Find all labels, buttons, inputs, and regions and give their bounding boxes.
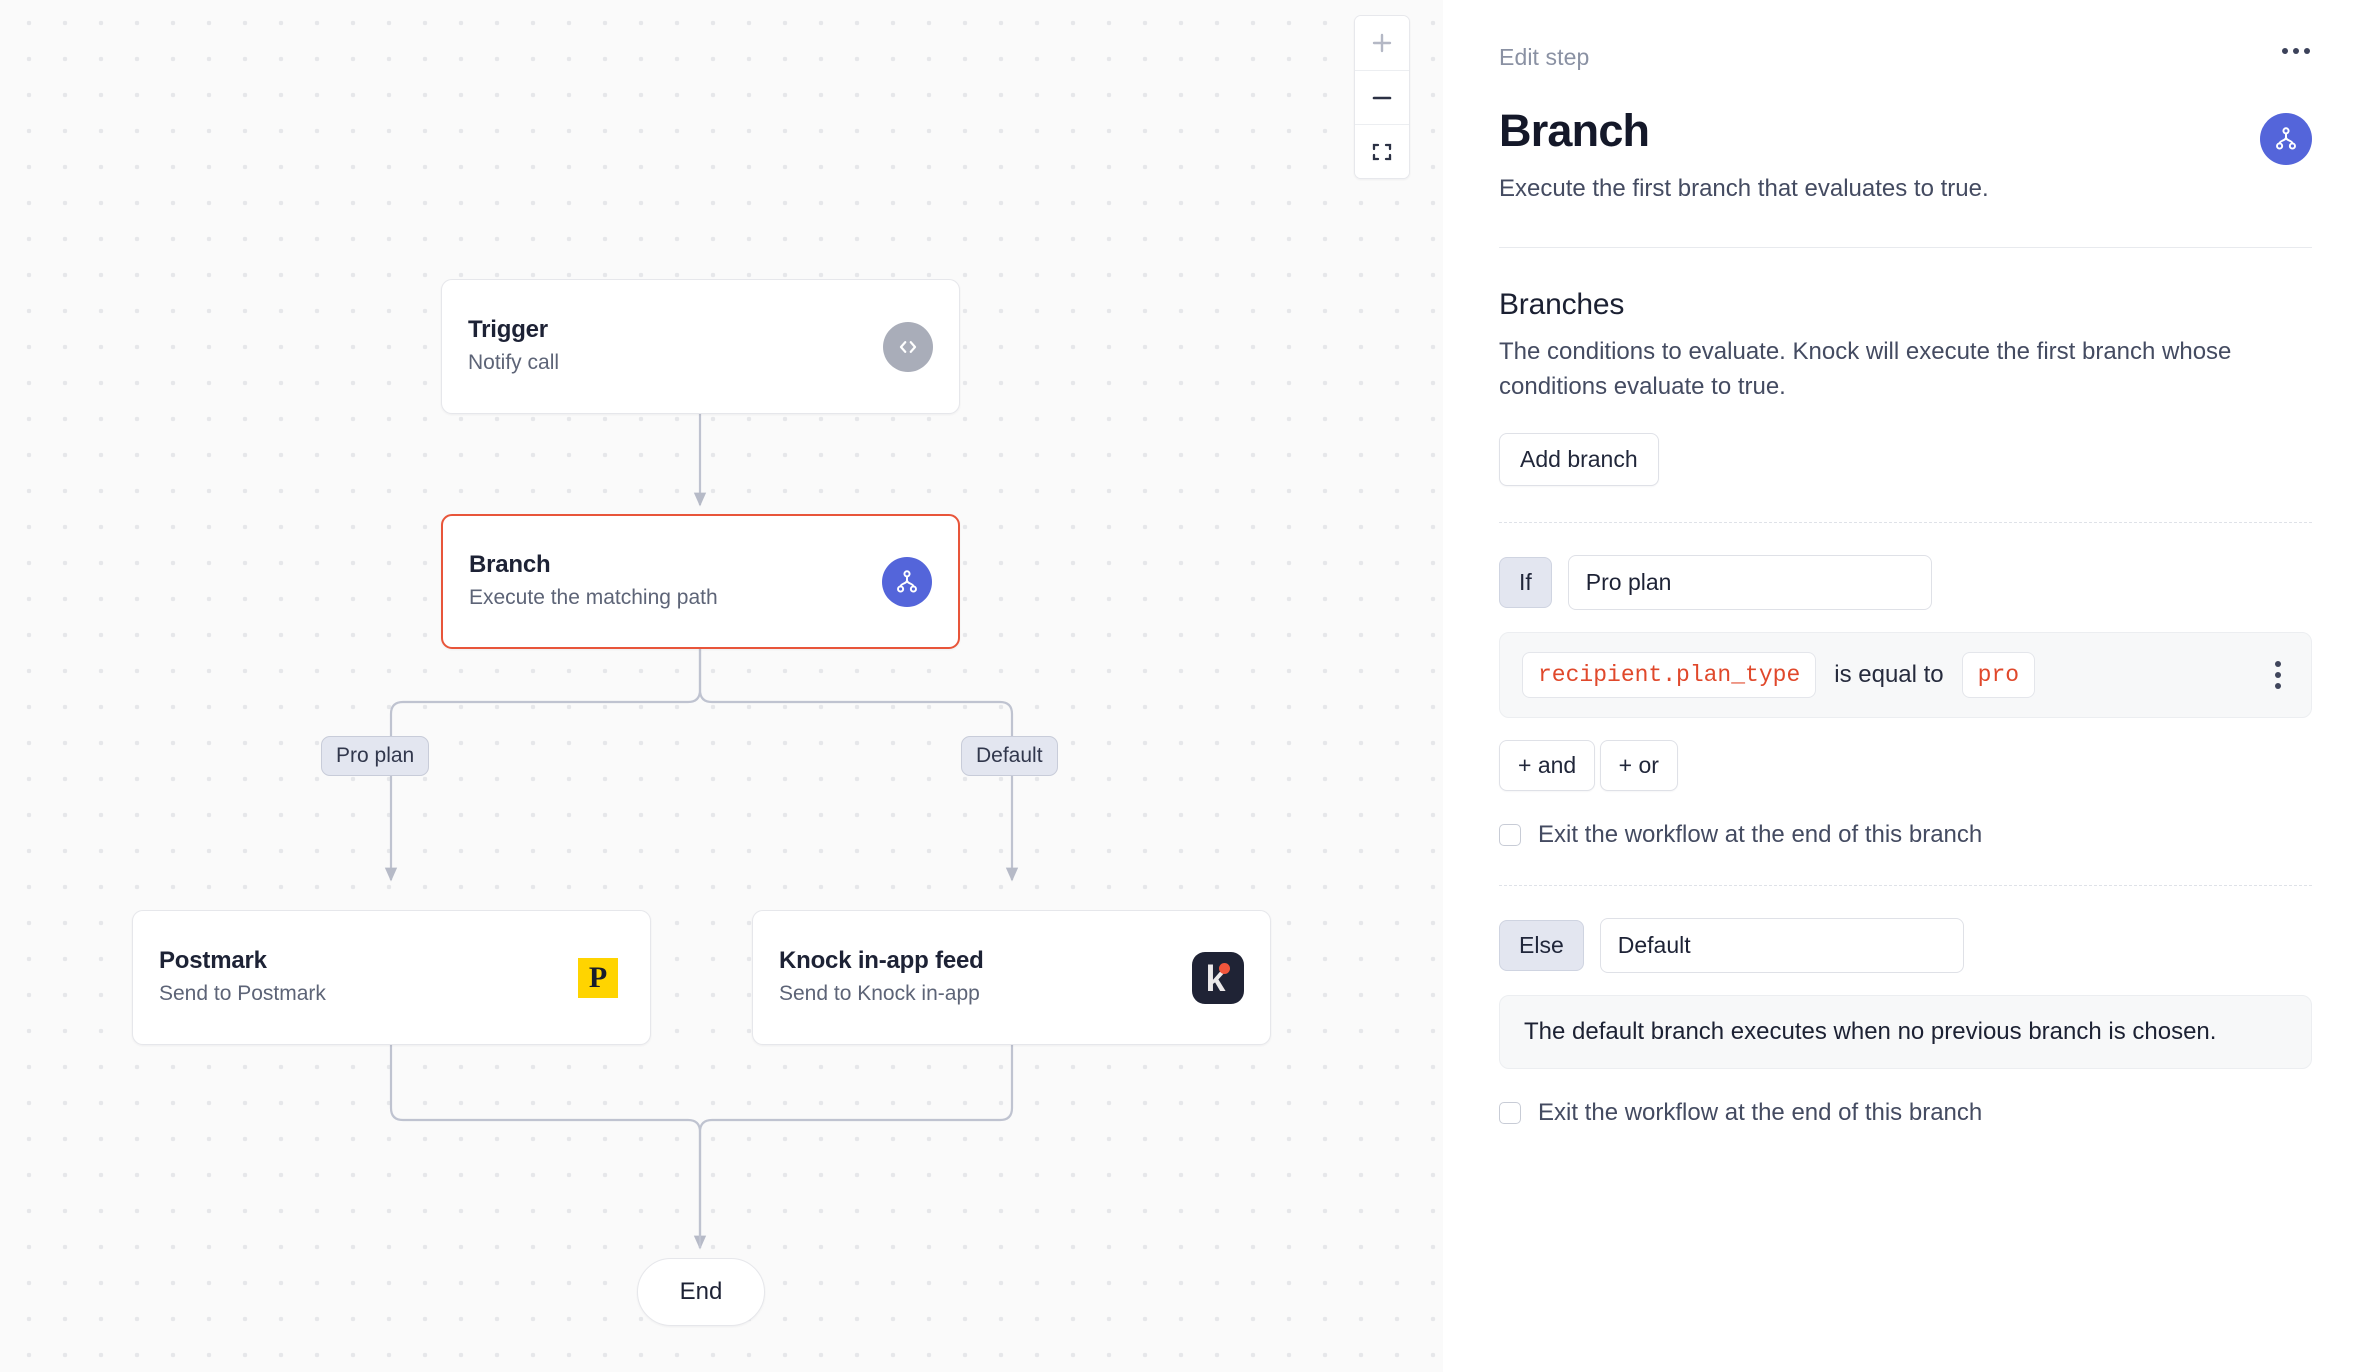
branch-if-exit-row: Exit the workflow at the end of this bra… xyxy=(1499,821,2312,849)
branch-else: Else The default branch executes when no… xyxy=(1499,918,2312,1127)
branch-if: If recipient.plan_type is equal to pro +… xyxy=(1499,555,2312,849)
condition-row: recipient.plan_type is equal to pro xyxy=(1499,632,2312,718)
workflow-canvas[interactable]: Trigger Notify call Branch Execute the m… xyxy=(0,0,1443,1372)
branch-if-exit-label: Exit the workflow at the end of this bra… xyxy=(1538,821,1982,849)
condition-operator[interactable]: is equal to xyxy=(1834,661,1943,689)
flow-node-end[interactable]: End xyxy=(637,1258,765,1326)
branch-else-header: Else xyxy=(1499,918,2312,973)
branch-else-exit-label: Exit the workflow at the end of this bra… xyxy=(1538,1099,1982,1127)
branch-icon xyxy=(2260,113,2312,165)
flow-node-knock-in-app-feed[interactable]: Knock in-app feed Send to Knock in-app k xyxy=(752,910,1271,1045)
branches-heading: Branches xyxy=(1499,288,2312,322)
node-subtitle: Notify call xyxy=(468,349,883,377)
branch-else-note: The default branch executes when no prev… xyxy=(1499,995,2312,1069)
branch-else-exit-row: Exit the workflow at the end of this bra… xyxy=(1499,1099,2312,1127)
flow-node-trigger[interactable]: Trigger Notify call xyxy=(441,279,960,414)
postmark-letter: P xyxy=(578,958,618,998)
panel-eyebrow: Edit step xyxy=(1499,44,1589,71)
dot xyxy=(2275,683,2281,689)
end-node-label: End xyxy=(680,1278,723,1306)
edge-label-pro-plan[interactable]: Pro plan xyxy=(321,736,429,776)
branch-if-header: If xyxy=(1499,555,2312,610)
node-title: Trigger xyxy=(468,315,883,345)
add-and-condition-button[interactable]: + and xyxy=(1499,740,1595,791)
step-description: Execute the first branch that evaluates … xyxy=(1499,173,1989,205)
dot xyxy=(2304,48,2310,54)
add-branch-button[interactable]: Add branch xyxy=(1499,433,1659,486)
flow-node-postmark[interactable]: Postmark Send to Postmark P xyxy=(132,910,651,1045)
node-subtitle: Send to Postmark xyxy=(159,980,572,1008)
node-title: Postmark xyxy=(159,946,572,976)
panel-header: Branch Execute the first branch that eva… xyxy=(1499,107,2312,205)
branch-if-name-input[interactable] xyxy=(1568,555,1932,610)
dot xyxy=(2282,48,2288,54)
node-title: Branch xyxy=(469,550,882,580)
branch-else-badge[interactable]: Else xyxy=(1499,920,1584,971)
branch-else-exit-checkbox[interactable] xyxy=(1499,1102,1521,1124)
add-or-condition-button[interactable]: + or xyxy=(1600,740,1678,791)
node-subtitle: Execute the matching path xyxy=(469,584,882,612)
divider xyxy=(1499,522,2312,523)
node-title: Knock in-app feed xyxy=(779,946,1192,976)
edit-step-panel: Edit step Branch Execute the first branc… xyxy=(1443,0,2368,1372)
knock-dot xyxy=(1219,963,1230,974)
vertical-dots-icon[interactable] xyxy=(2267,657,2289,693)
knock-logo-icon: k xyxy=(1192,952,1244,1004)
panel-overflow-menu-button[interactable] xyxy=(2280,44,2312,58)
branch-else-name-input[interactable] xyxy=(1600,918,1964,973)
divider xyxy=(1499,885,2312,886)
flow-node-branch[interactable]: Branch Execute the matching path xyxy=(441,514,960,649)
code-brackets-icon xyxy=(883,322,933,372)
dot xyxy=(2275,661,2281,667)
page-title: Branch xyxy=(1499,107,1989,156)
edge-label-default[interactable]: Default xyxy=(961,736,1058,776)
node-subtitle: Send to Knock in-app xyxy=(779,980,1192,1008)
postmark-logo-icon: P xyxy=(572,952,624,1004)
branch-if-exit-checkbox[interactable] xyxy=(1499,824,1521,846)
condition-variable-chip[interactable]: recipient.plan_type xyxy=(1522,652,1816,698)
dot xyxy=(2293,48,2299,54)
branch-icon xyxy=(882,557,932,607)
panel-topbar: Edit step xyxy=(1499,44,2312,71)
divider xyxy=(1499,247,2312,248)
branch-if-badge[interactable]: If xyxy=(1499,557,1552,608)
workflow-edges xyxy=(0,0,1443,1372)
condition-value-chip[interactable]: pro xyxy=(1962,652,2035,698)
dot xyxy=(2275,672,2281,678)
branches-description: The conditions to evaluate. Knock will e… xyxy=(1499,335,2312,405)
